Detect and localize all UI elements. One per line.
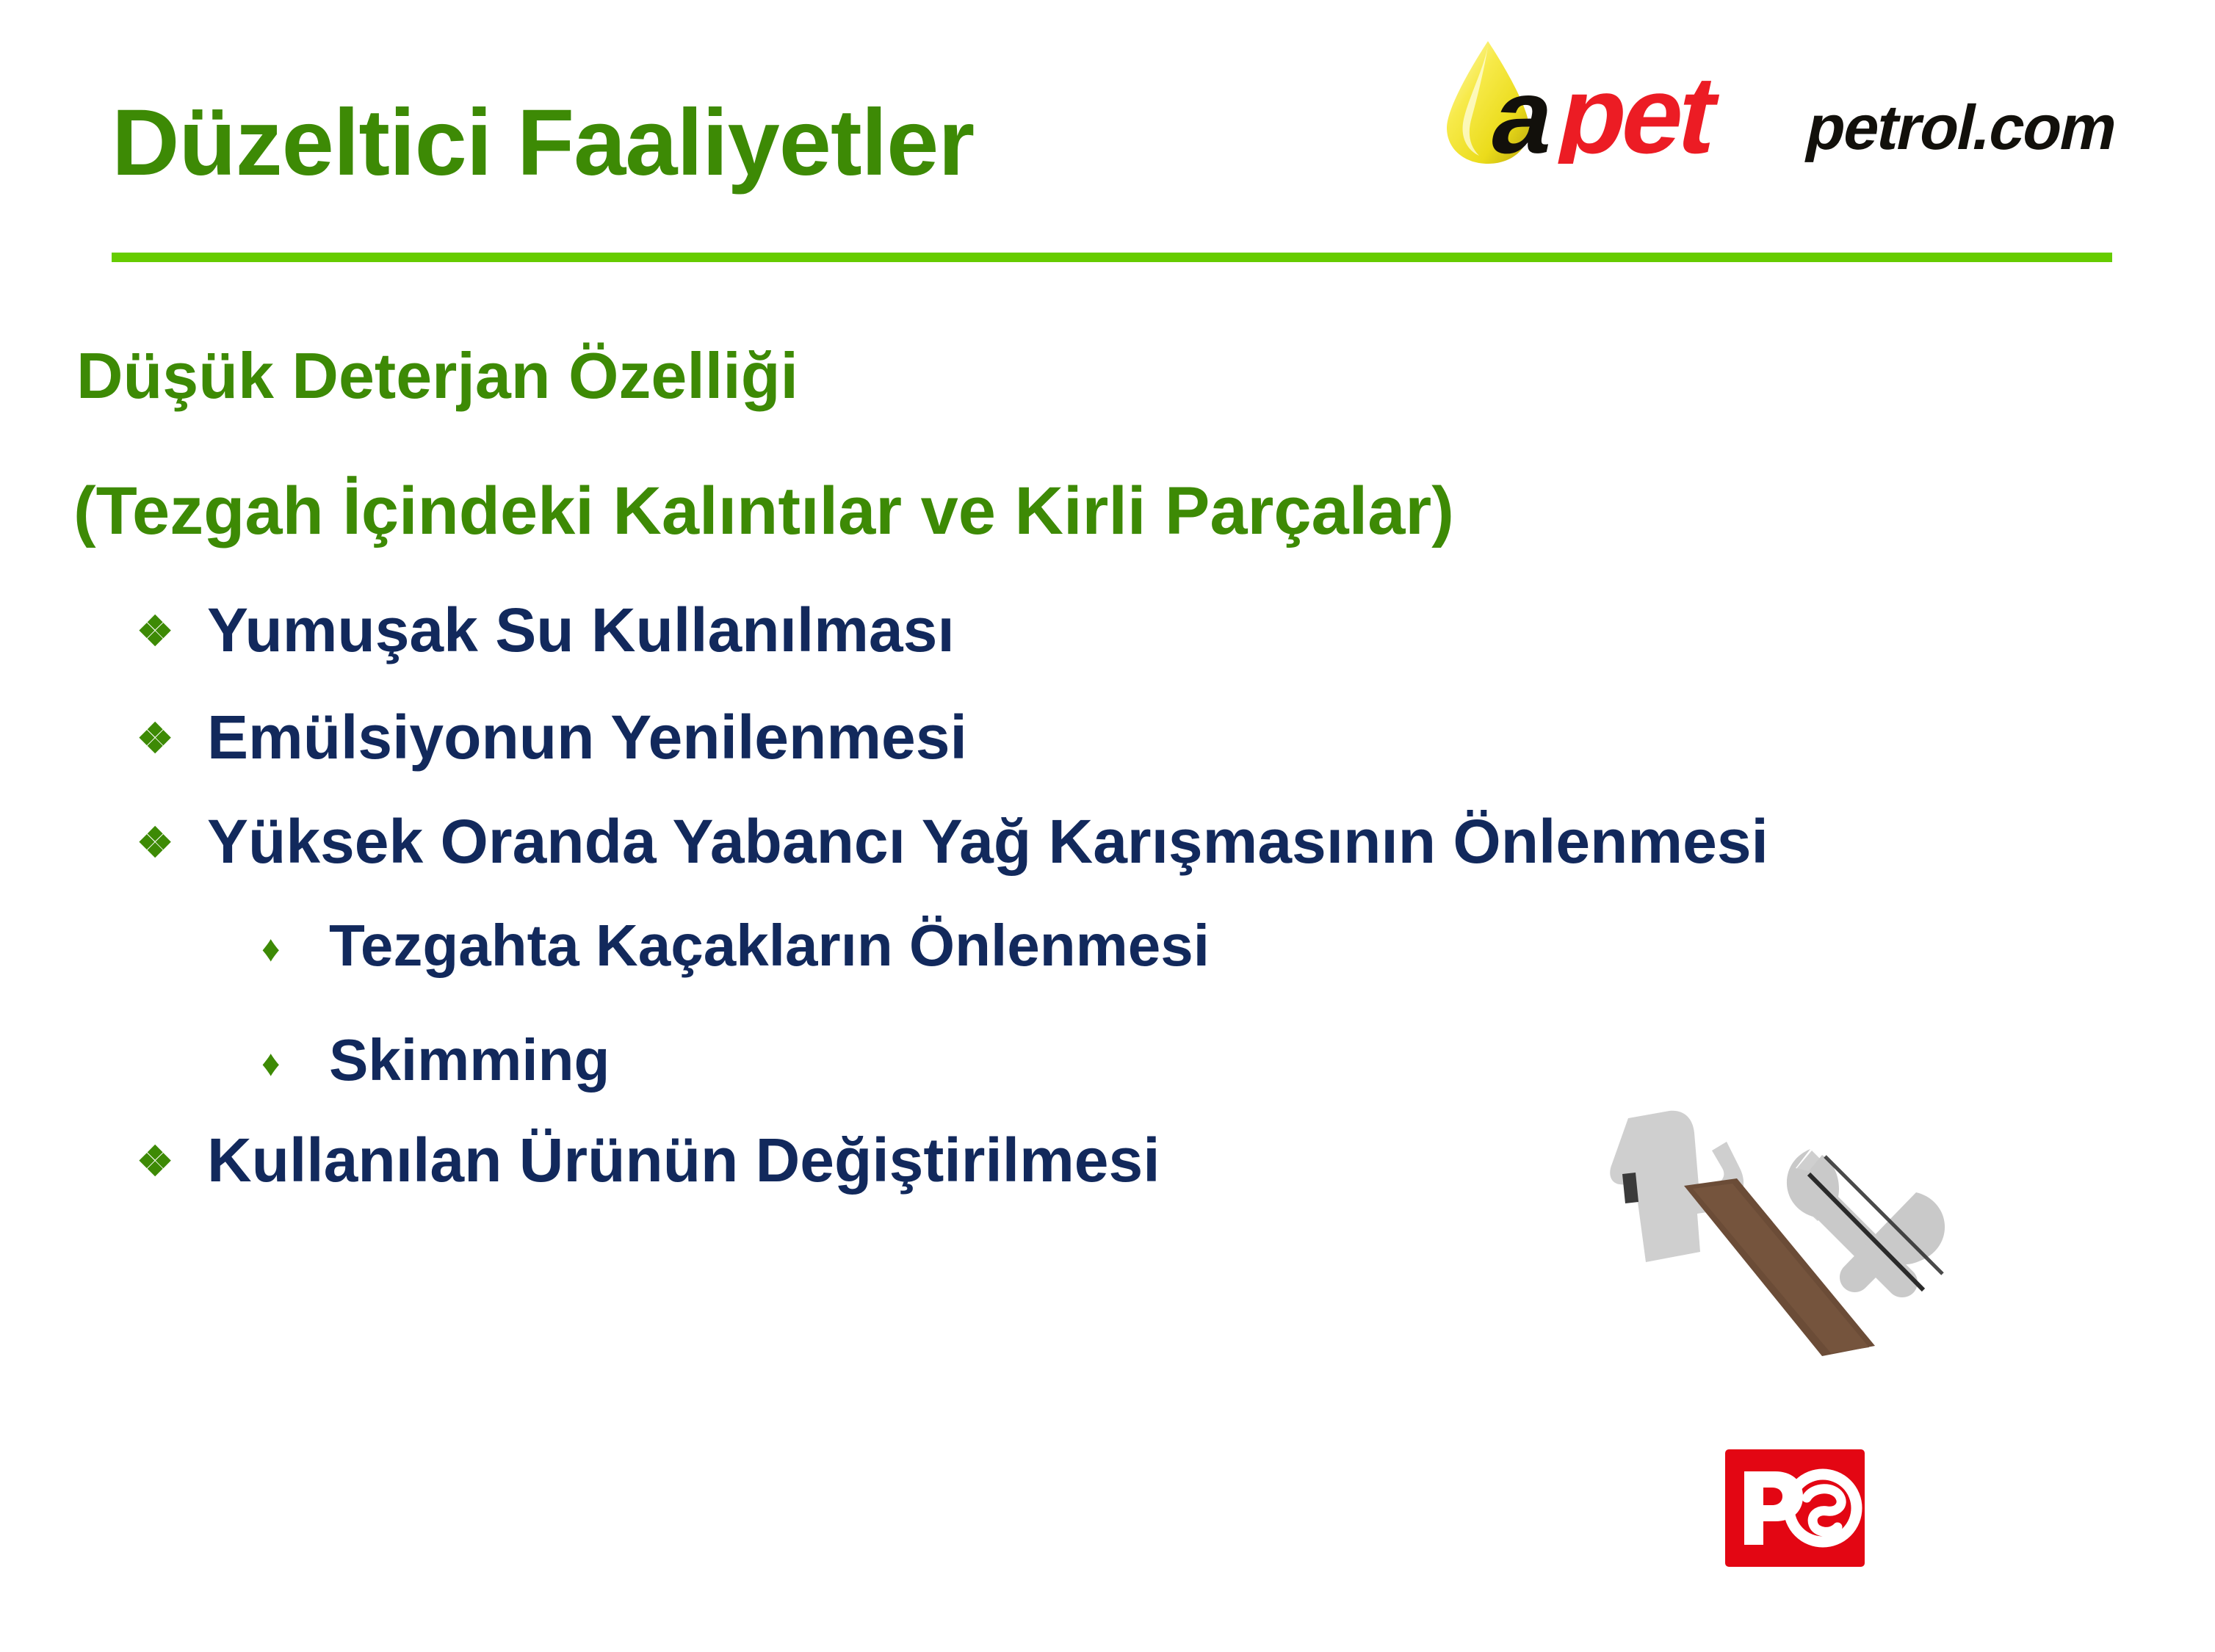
sub-list-item-label: Skimming [329,1031,610,1090]
title-divider [112,253,2112,262]
sub-list-item: ♦ Skimming [261,1031,610,1090]
hammer-and-wrench-image [1575,1098,2016,1391]
list-item-label: Yüksek Oranda Yabancı Yağ Karışmasının Ö… [207,811,1768,872]
subtitle-line-2: (Tezgah İçindeki Kalıntılar ve Kirli Par… [73,477,1454,545]
list-item: ❖ Kullanılan Ürünün Değiştirilmesi [137,1129,1160,1191]
svg-text:petrol.com: petrol.com [1800,93,2123,163]
po-petrol-ofisi-logo [1722,1446,1876,1586]
bullet-diamond-icon: ♦ [261,1045,329,1082]
list-item-label: Emülsiyonun Yenilenmesi [207,706,967,768]
list-item: ❖ Yüksek Oranda Yabancı Yağ Karışmasının… [137,811,1768,872]
page-title: Düzeltici Faaliyetler [112,94,974,192]
list-item-label: Kullanılan Ürünün Değiştirilmesi [207,1129,1160,1191]
list-item-label: Yumuşak Su Kullanılması [207,599,955,661]
sub-list-item-label: Tezgahta Kaçakların Önlenmesi [329,916,1210,975]
bullet-diamond-cluster-icon: ❖ [137,718,207,759]
bullet-diamond-cluster-icon: ❖ [137,1141,207,1182]
presentation-slide: Düzeltici Faaliyetler a [0,0,2215,1652]
logo-word-petrol-com: petrol.com [1800,93,2123,163]
list-item: ❖ Emülsiyonun Yenilenmesi [137,706,967,768]
bullet-diamond-icon: ♦ [261,930,329,967]
subtitle-line-1: Düşük Deterjan Özelliği [76,344,798,408]
sub-list-item: ♦ Tezgahta Kaçakların Önlenmesi [261,916,1210,975]
apet-petrol-com-logo: a pet petrol.com [1431,35,2180,164]
bullet-diamond-cluster-icon: ❖ [137,822,207,863]
bullet-diamond-cluster-icon: ❖ [137,611,207,652]
list-item: ❖ Yumuşak Su Kullanılması [137,599,955,661]
logo-word-pet: pet [1547,54,1729,164]
svg-text:pet: pet [1547,54,1729,164]
